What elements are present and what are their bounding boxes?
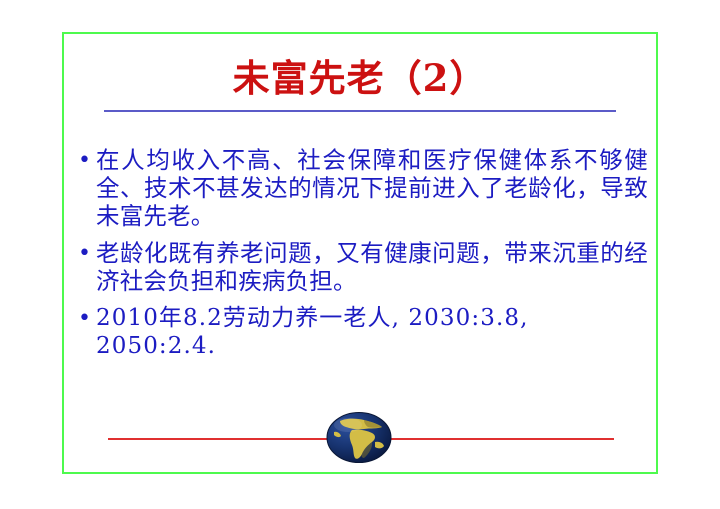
title-underline-rule <box>104 110 616 112</box>
bullet-text: 老龄化既有养老问题，又有健康问题，带来沉重的经济社会负担和疾病负担。 <box>96 239 648 295</box>
bullet-marker-icon: • <box>78 239 96 268</box>
list-item: • 老龄化既有养老问题，又有健康问题，带来沉重的经济社会负担和疾病负担。 <box>78 239 648 295</box>
page-title: 未富先老（2） <box>62 55 658 101</box>
slide-canvas: 未富先老（2） • 在人均收入不高、社会保障和医疗保健体系不够健全、技术不甚发达… <box>0 0 720 509</box>
bullet-marker-icon: • <box>78 304 96 333</box>
bullet-list: • 在人均收入不高、社会保障和医疗保健体系不够健全、技术不甚发达的情况下提前进入… <box>78 146 648 369</box>
bullet-marker-icon: • <box>78 146 96 175</box>
list-item: • 2010年8.2劳动力养一老人, 2030:3.8, 2050:2.4. <box>78 304 648 360</box>
globe-icon <box>326 412 392 463</box>
bullet-text: 2010年8.2劳动力养一老人, 2030:3.8, 2050:2.4. <box>96 304 648 360</box>
list-item: • 在人均收入不高、社会保障和医疗保健体系不够健全、技术不甚发达的情况下提前进入… <box>78 146 648 230</box>
bullet-text: 在人均收入不高、社会保障和医疗保健体系不够健全、技术不甚发达的情况下提前进入了老… <box>96 146 648 230</box>
